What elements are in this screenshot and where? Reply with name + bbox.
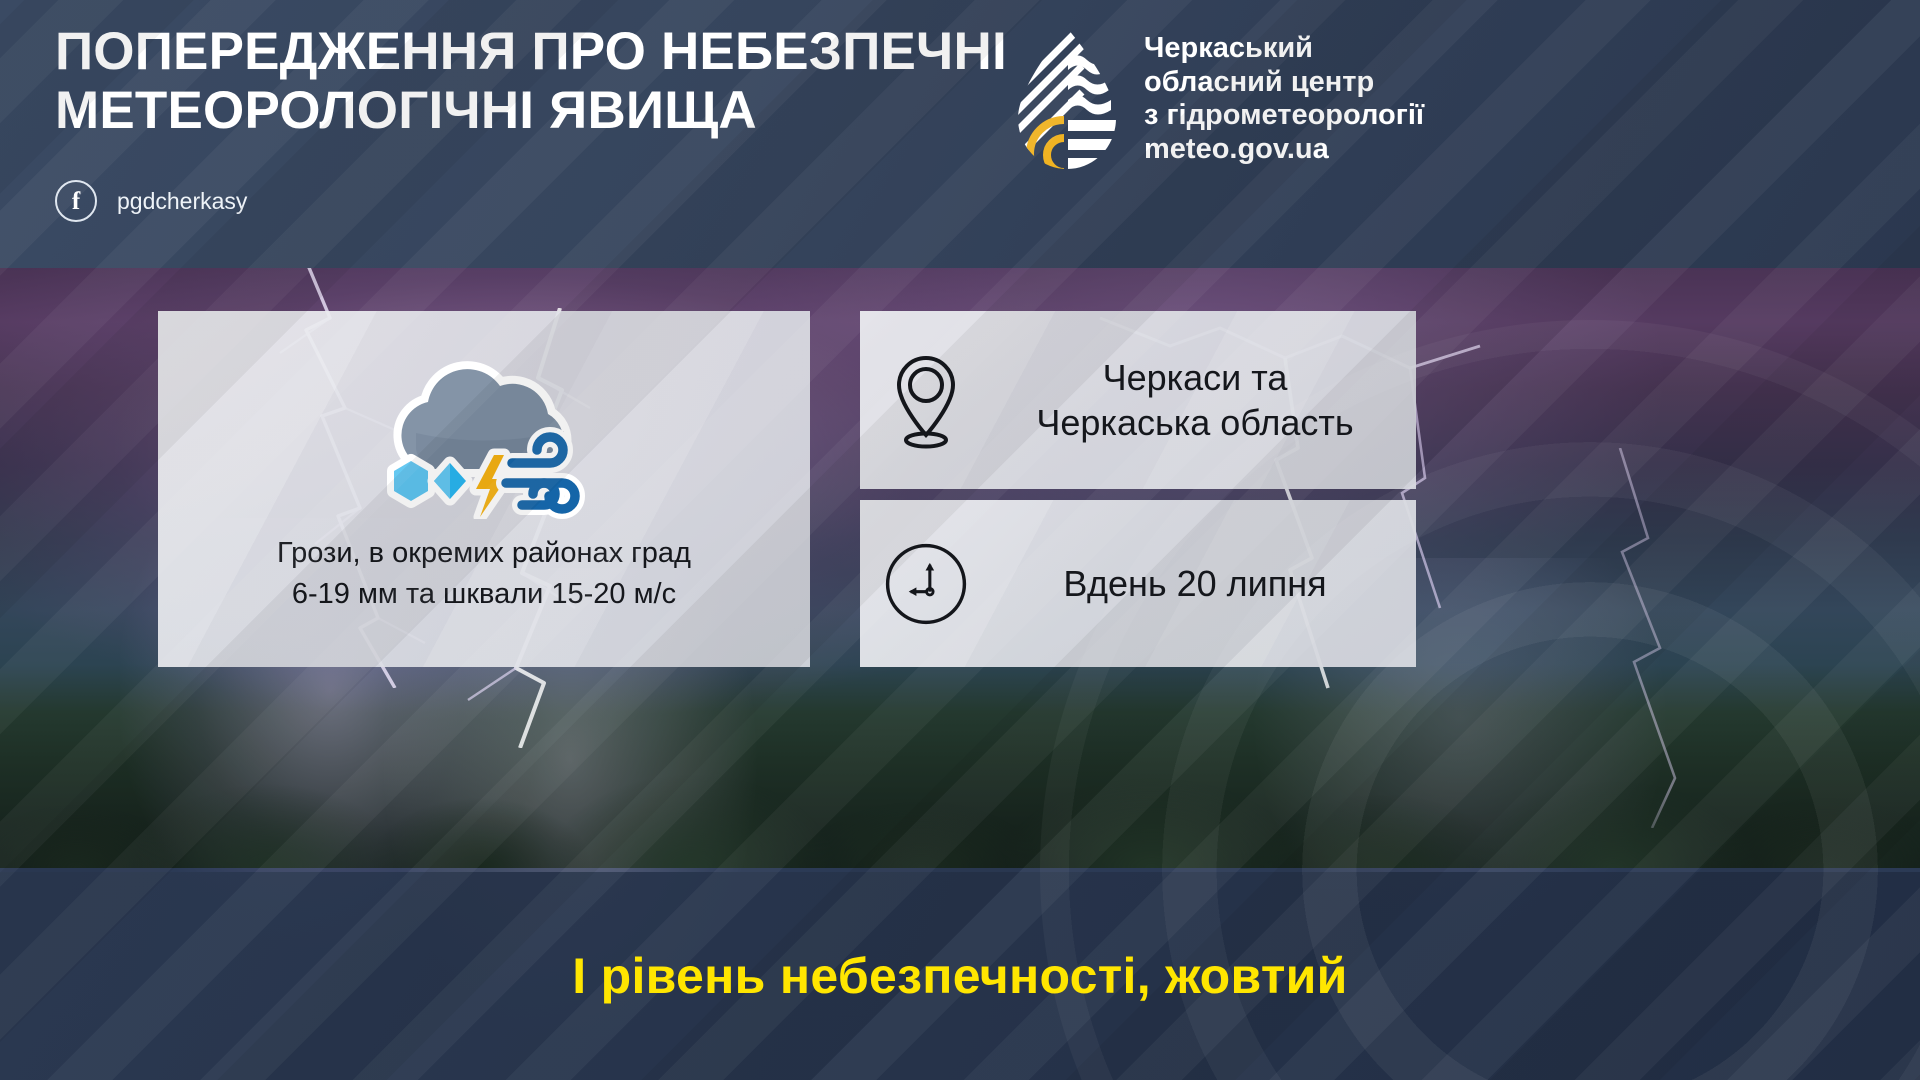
thunderstorm-hail-wind-icon	[354, 359, 614, 519]
facebook-handle-row[interactable]: f pgdcherkasy	[55, 180, 247, 222]
clock-icon	[860, 536, 992, 632]
date-card-text: Вдень 20 липня	[992, 561, 1416, 606]
date-card: Вдень 20 липня	[860, 500, 1416, 667]
facebook-icon: f	[55, 180, 97, 222]
page-title-line-1: ПОПЕРЕДЖЕННЯ ПРО НЕБЕЗПЕЧНІ	[55, 22, 1007, 81]
facebook-glyph: f	[72, 189, 80, 214]
logo-website[interactable]: meteo.gov.ua	[1144, 133, 1424, 167]
header-bar: ПОПЕРЕДЖЕННЯ ПРО НЕБЕЗПЕЧНІ МЕТЕОРОЛОГІЧ…	[0, 0, 1920, 268]
location-card: Черкаси та Черкаська область	[860, 311, 1416, 489]
logo-line-2: обласний центр	[1144, 66, 1424, 100]
warning-card: Грози, в окремих районах град 6-19 мм та…	[158, 311, 810, 667]
droplet-logo-icon	[1012, 26, 1122, 172]
facebook-handle-label: pgdcherkasy	[117, 188, 247, 215]
danger-level-label: І рівень небезпечності, жовтий	[572, 947, 1347, 1005]
organisation-name: Черкаський обласний центр з гідрометеоро…	[1144, 26, 1424, 167]
treeline-silhouette	[0, 638, 1920, 868]
page-title-line-2: МЕТЕОРОЛОГІЧНІ ЯВИЩА	[55, 81, 1035, 140]
organisation-logo: Черкаський обласний центр з гідрометеоро…	[1012, 26, 1424, 172]
logo-line-3: з гідрометеорології	[1144, 99, 1424, 133]
logo-line-1: Черкаський	[1144, 32, 1424, 66]
warning-card-text: Грози, в окремих районах град 6-19 мм та…	[158, 533, 810, 615]
map-pin-icon	[860, 350, 992, 450]
poster-stage: ПОПЕРЕДЖЕННЯ ПРО НЕБЕЗПЕЧНІ МЕТЕОРОЛОГІЧ…	[0, 0, 1920, 1080]
danger-level-banner: І рівень небезпечності, жовтий	[0, 872, 1920, 1080]
date-text: Вдень 20 липня	[992, 561, 1398, 606]
location-text-line-2: Черкаська область	[992, 400, 1398, 445]
page-title: ПОПЕРЕДЖЕННЯ ПРО НЕБЕЗПЕЧНІ МЕТЕОРОЛОГІЧ…	[55, 22, 1035, 141]
warning-text-line-1: Грози, в окремих районах град	[158, 533, 810, 574]
location-text-line-1: Черкаси та	[992, 355, 1398, 400]
warning-text-line-2: 6-19 мм та шквали 15-20 м/с	[158, 574, 810, 615]
location-card-text: Черкаси та Черкаська область	[992, 355, 1416, 446]
